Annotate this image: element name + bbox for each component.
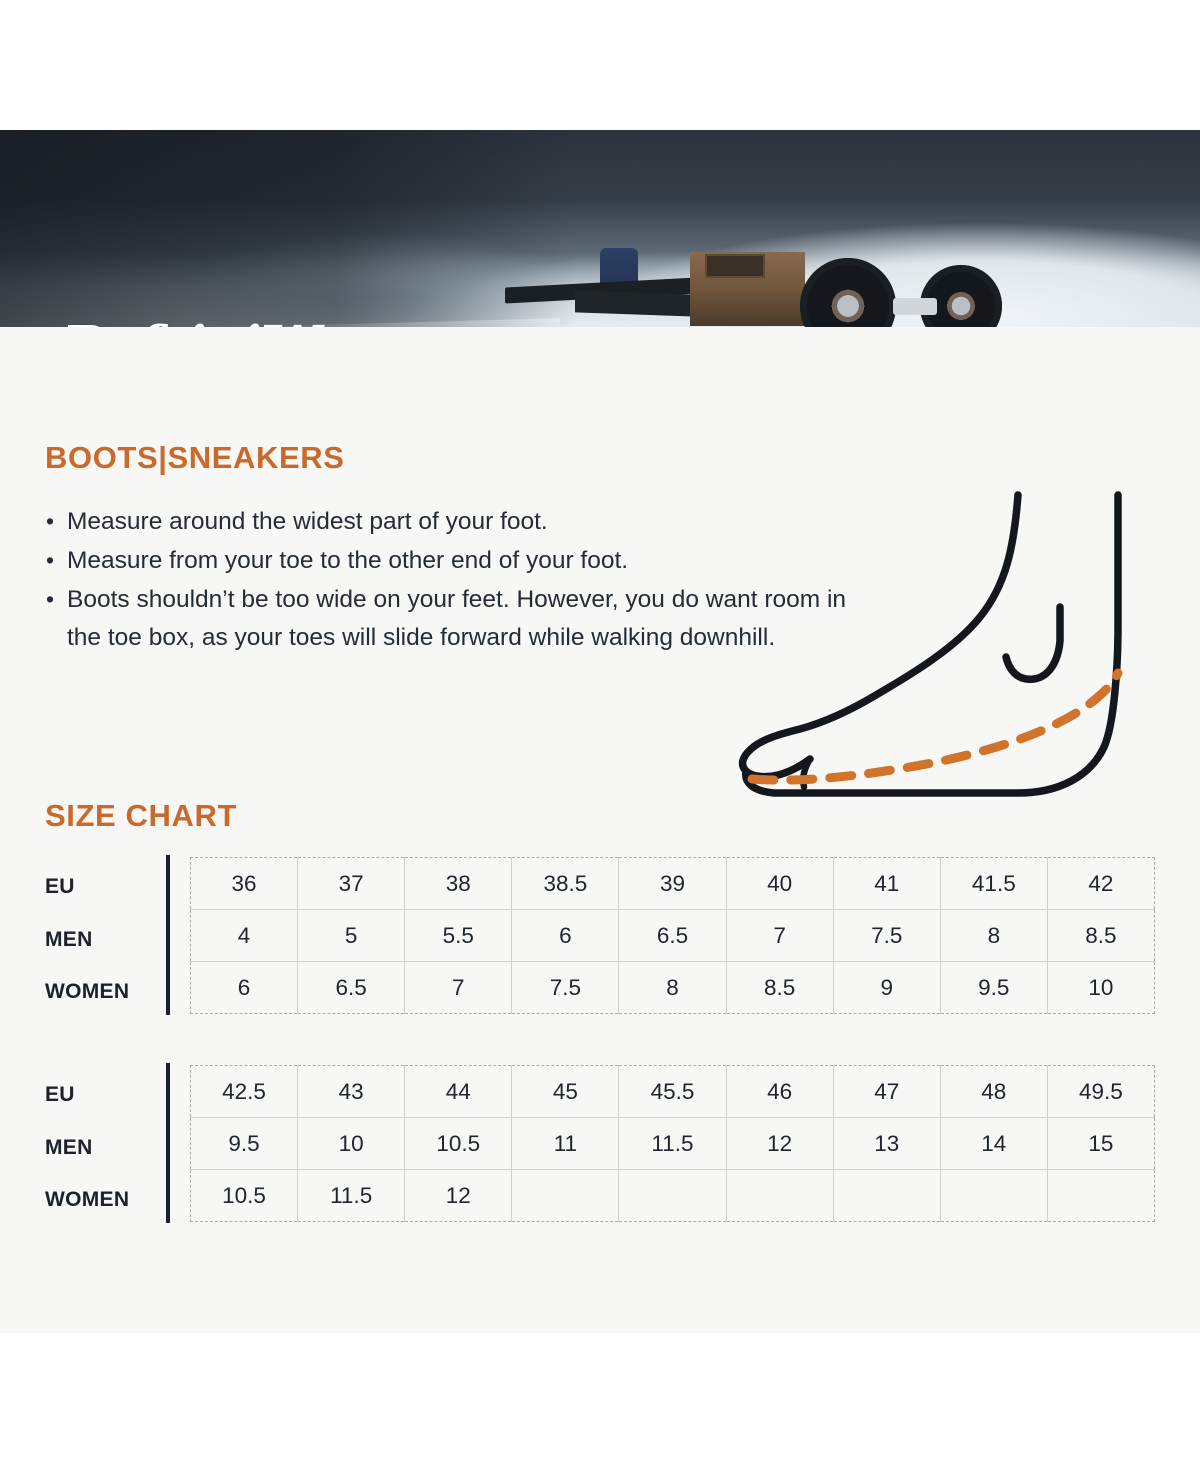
size-table-small: 36 37 38 38.5 39 40 41 41.5 42 4 5 5.5 6… <box>190 857 1155 1014</box>
cell: 9 <box>833 962 940 1014</box>
cell: 45.5 <box>619 1066 726 1118</box>
cell: 6 <box>512 910 619 962</box>
cell: 4 <box>191 910 298 962</box>
cell: 36 <box>191 858 298 910</box>
cell: 38 <box>405 858 512 910</box>
cell: 12 <box>726 1118 833 1170</box>
cell: 9.5 <box>940 962 1047 1014</box>
cell <box>833 1170 940 1222</box>
table-1-divider <box>166 855 170 1015</box>
table-1-row-label-eu: EU <box>45 875 75 899</box>
cell: 14 <box>940 1118 1047 1170</box>
cell: 10 <box>298 1118 405 1170</box>
foot-outline-icon <box>718 477 1178 807</box>
table-row-eu: 36 37 38 38.5 39 40 41 41.5 42 <box>191 858 1155 910</box>
table-row-women: 10.5 11.5 12 <box>191 1170 1155 1222</box>
hero-vignette <box>0 130 1200 327</box>
cell: 45 <box>512 1066 619 1118</box>
top-gutter <box>0 0 1200 130</box>
cell: 7 <box>405 962 512 1014</box>
cell: 39 <box>619 858 726 910</box>
size-table-large: 42.5 43 44 45 45.5 46 47 48 49.5 9.5 10 … <box>190 1065 1155 1222</box>
cell: 15 <box>1047 1118 1154 1170</box>
cell: 49.5 <box>1047 1066 1154 1118</box>
cell: 7 <box>726 910 833 962</box>
cell: 6 <box>191 962 298 1014</box>
table-row-men: 4 5 5.5 6 6.5 7 7.5 8 8.5 <box>191 910 1155 962</box>
cell: 43 <box>298 1066 405 1118</box>
cell: 48 <box>940 1066 1047 1118</box>
cell: 44 <box>405 1066 512 1118</box>
cell: 37 <box>298 858 405 910</box>
cell: 9.5 <box>191 1118 298 1170</box>
cell: 38.5 <box>512 858 619 910</box>
table-2-row-label-women: WOMEN <box>45 1188 129 1212</box>
cell: 7.5 <box>512 962 619 1014</box>
cell: 12 <box>405 1170 512 1222</box>
table-1-row-label-women: WOMEN <box>45 980 129 1004</box>
cell: 6.5 <box>619 910 726 962</box>
cell: 42 <box>1047 858 1154 910</box>
cell: 13 <box>833 1118 940 1170</box>
cell: 5 <box>298 910 405 962</box>
cell: 6.5 <box>298 962 405 1014</box>
size-chart-page: RefrigiWear® BOOTS|SNEAKERS Measure arou… <box>0 0 1200 1465</box>
table-2-row-label-eu: EU <box>45 1083 75 1107</box>
table-row-men: 9.5 10 10.5 11 11.5 12 13 14 15 <box>191 1118 1155 1170</box>
hero-banner: RefrigiWear® <box>0 130 1200 327</box>
content-panel: BOOTS|SNEAKERS Measure around the widest… <box>0 327 1200 1333</box>
cell: 11.5 <box>298 1170 405 1222</box>
table-row-women: 6 6.5 7 7.5 8 8.5 9 9.5 10 <box>191 962 1155 1014</box>
cell <box>512 1170 619 1222</box>
table-row-eu: 42.5 43 44 45 45.5 46 47 48 49.5 <box>191 1066 1155 1118</box>
cell: 8.5 <box>726 962 833 1014</box>
cell: 10 <box>1047 962 1154 1014</box>
cell: 7.5 <box>833 910 940 962</box>
cell: 11.5 <box>619 1118 726 1170</box>
cell: 40 <box>726 858 833 910</box>
cell: 41 <box>833 858 940 910</box>
cell: 11 <box>512 1118 619 1170</box>
boots-sneakers-heading: BOOTS|SNEAKERS <box>45 440 345 476</box>
cell: 41.5 <box>940 858 1047 910</box>
cell: 42.5 <box>191 1066 298 1118</box>
cell: 5.5 <box>405 910 512 962</box>
table-1-row-label-men: MEN <box>45 928 93 952</box>
table-2-row-label-men: MEN <box>45 1136 93 1160</box>
table-2-divider <box>166 1063 170 1223</box>
cell <box>726 1170 833 1222</box>
cell: 10.5 <box>405 1118 512 1170</box>
cell: 8.5 <box>1047 910 1154 962</box>
cell: 46 <box>726 1066 833 1118</box>
cell: 10.5 <box>191 1170 298 1222</box>
bottom-gutter <box>0 1333 1200 1465</box>
cell <box>619 1170 726 1222</box>
size-chart-heading: SIZE CHART <box>45 798 237 834</box>
refrigiwear-logo: RefrigiWear® <box>62 315 422 327</box>
cell: 8 <box>940 910 1047 962</box>
cell <box>940 1170 1047 1222</box>
cell: 8 <box>619 962 726 1014</box>
cell: 47 <box>833 1066 940 1118</box>
cell <box>1047 1170 1154 1222</box>
logo-wordmark: RefrigiWear <box>62 315 408 327</box>
